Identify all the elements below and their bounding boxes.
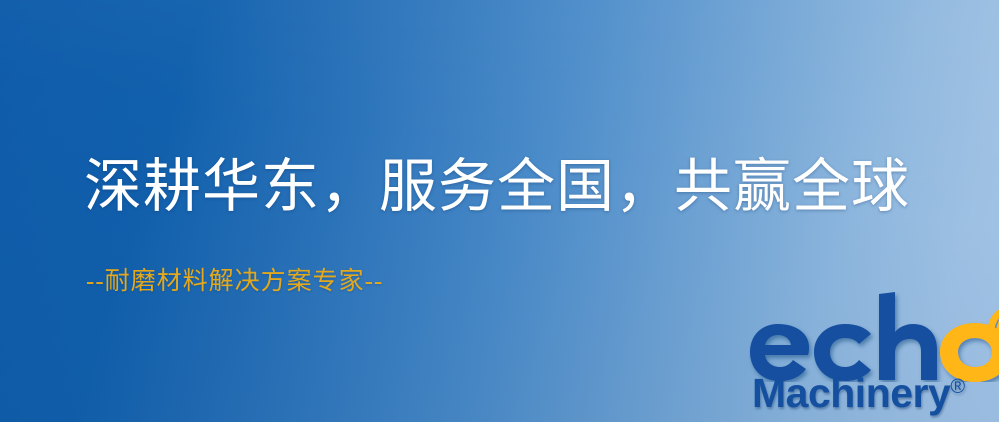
echo-logo-mark <box>748 292 999 382</box>
company-logo: Machinery® <box>748 292 999 422</box>
logo-tagline: Machinery® <box>752 370 965 417</box>
logo-letter-h <box>879 292 937 380</box>
registered-trademark-icon: ® <box>950 376 965 398</box>
page-title: 深耕华东，服务全国，共赢全球 <box>84 152 910 222</box>
banner-subtitle: --耐磨材料解决方案专家-- <box>86 266 383 298</box>
promo-banner: 深耕华东，服务全国，共赢全球 --耐磨材料解决方案专家-- <box>0 0 999 422</box>
logo-tagline-text: Machinery <box>752 370 950 416</box>
